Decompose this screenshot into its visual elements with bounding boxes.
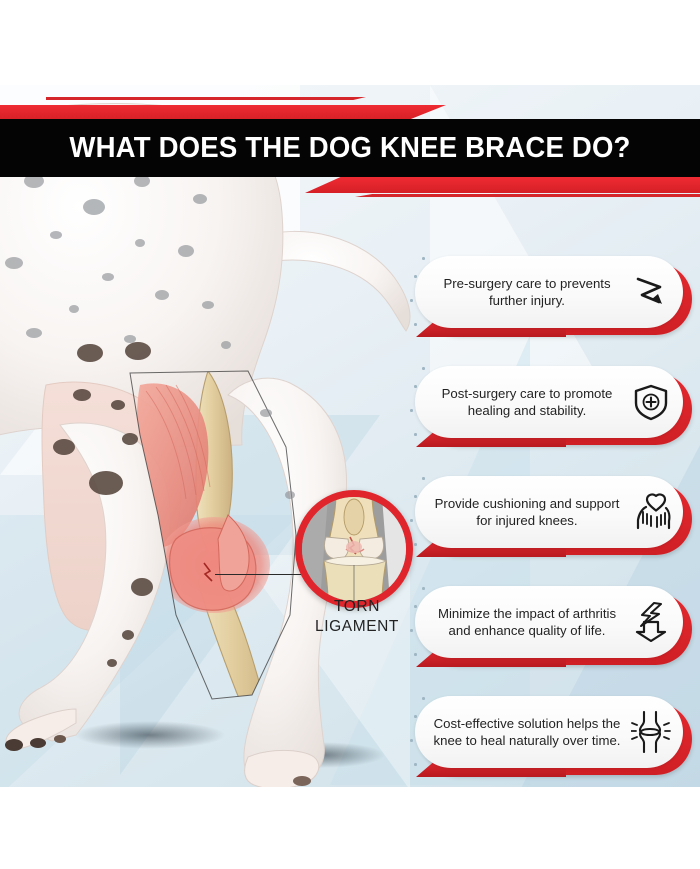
callout-text: Minimize the impact of arthritis and enh… xyxy=(415,605,625,640)
callout-text: Cost-effective solution helps the knee t… xyxy=(415,715,625,750)
zigzag-arrow-icon xyxy=(625,273,683,311)
callout-body[interactable]: Cost-effective solution helps the knee t… xyxy=(415,696,683,768)
banner-accent-line-top xyxy=(46,97,366,100)
infographic-poster: TORN LIGAMENT Pre-surger xyxy=(0,0,700,869)
hands-holding-heart-icon xyxy=(625,493,683,531)
title-banner: WHAT DOES THE DOG KNEE BRACE DO? xyxy=(0,97,700,207)
callout-body[interactable]: Pre-surgery care to prevents further inj… xyxy=(415,256,683,328)
paw-nail xyxy=(30,738,46,748)
callout-arthritis[interactable]: Minimize the impact of arthritis and enh… xyxy=(410,583,700,675)
inset-circle-frame xyxy=(295,490,413,608)
paw-nail xyxy=(5,739,23,751)
paw-nail xyxy=(293,776,311,786)
callout-cushioning[interactable]: Provide cushioning and support for injur… xyxy=(410,473,700,565)
callout-cost-effective[interactable]: Cost-effective solution helps the knee t… xyxy=(410,693,700,785)
knee-anatomy-inset xyxy=(295,490,413,608)
paw-nail xyxy=(54,735,66,743)
ground-shadow xyxy=(75,721,225,749)
knee-joint-healing-icon xyxy=(625,711,683,753)
top-white-margin xyxy=(0,0,700,85)
knee-joint-cross-section-icon xyxy=(302,497,406,601)
torn-label-line1: TORN xyxy=(292,597,422,617)
down-arrow-lightning-icon xyxy=(625,602,683,642)
callout-body[interactable]: Provide cushioning and support for injur… xyxy=(415,476,683,548)
callout-body[interactable]: Minimize the impact of arthritis and enh… xyxy=(415,586,683,658)
callout-text: Post-surgery care to promote healing and… xyxy=(415,385,625,420)
callout-pre-surgery[interactable]: Pre-surgery care to prevents further inj… xyxy=(410,253,700,345)
callout-text: Pre-surgery care to prevents further inj… xyxy=(415,275,625,310)
banner-accent-line-bottom xyxy=(355,194,700,197)
page-title: WHAT DOES THE DOG KNEE BRACE DO? xyxy=(18,119,683,177)
banner-red-bar-bottom xyxy=(305,177,700,193)
torn-ligament-label: TORN LIGAMENT xyxy=(292,597,422,637)
torn-label-line2: LIGAMENT xyxy=(292,617,422,637)
shield-plus-icon xyxy=(625,383,683,421)
callout-post-surgery[interactable]: Post-surgery care to promote healing and… xyxy=(410,363,700,455)
inset-leader-line xyxy=(215,574,307,575)
bottom-white-margin xyxy=(0,787,700,869)
callout-text: Provide cushioning and support for injur… xyxy=(415,495,625,530)
callout-body[interactable]: Post-surgery care to promote healing and… xyxy=(415,366,683,438)
